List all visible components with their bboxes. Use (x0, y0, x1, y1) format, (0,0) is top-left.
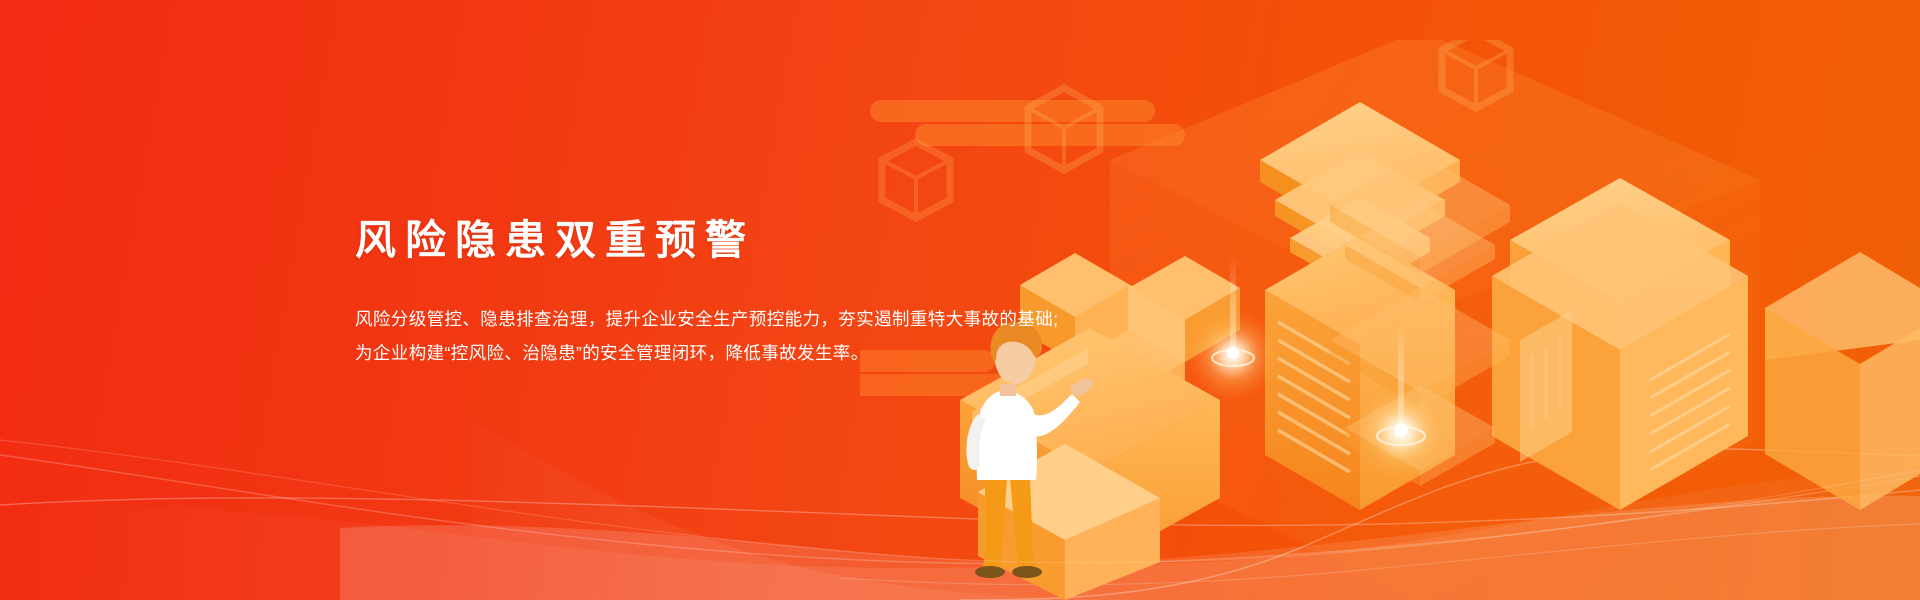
banner-text-block: 风险隐患双重预警 风险分级管控、隐患排查治理，提升企业安全生产预控能力，夯实遏制… (355, 215, 1175, 370)
banner-subtitle: 风险分级管控、隐患排查治理，提升企业安全生产预控能力，夯实遏制重特大事故的基础;… (355, 302, 1175, 370)
promo-banner: 风险隐患双重预警 风险分级管控、隐患排查治理，提升企业安全生产预控能力，夯实遏制… (0, 0, 1920, 600)
person-shoe-right (1012, 566, 1042, 578)
hexagon-cube-outline (882, 142, 950, 218)
banner-subtitle-line-1: 风险分级管控、隐患排查治理，提升企业安全生产预控能力，夯实遏制重特大事故的基础; (355, 302, 1175, 336)
iso-tower-far-right (1765, 252, 1920, 510)
banner-subtitle-line-2: 为企业构建“控风险、治隐患”的安全管理闭环，降低事故发生率。 (355, 336, 1175, 370)
person-neck (1000, 384, 1016, 396)
person-shoe-left (975, 566, 1005, 578)
person-torso (977, 390, 1037, 480)
banner-title: 风险隐患双重预警 (355, 215, 1175, 266)
